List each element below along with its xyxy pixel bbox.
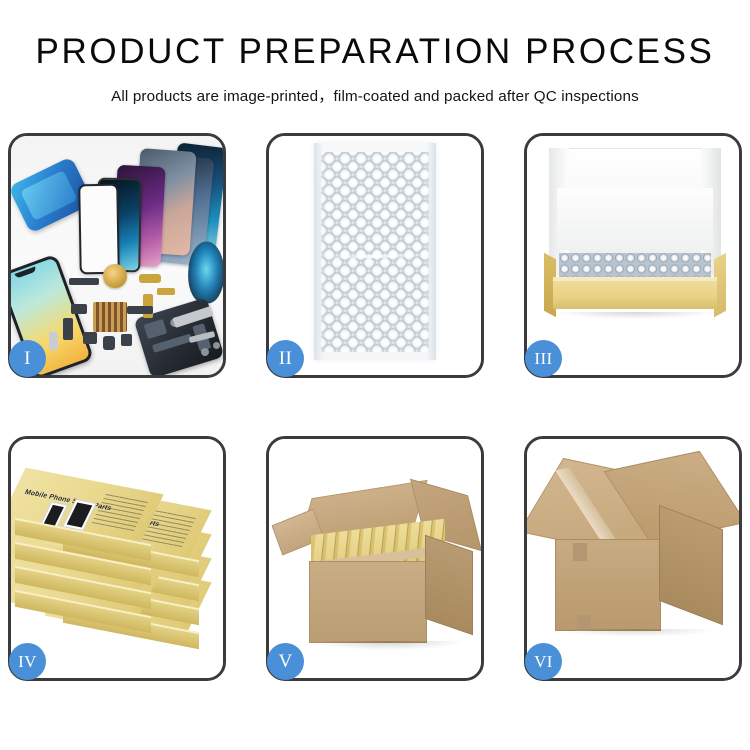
step-badge-1: I [9,340,46,377]
process-step-6: VI [524,436,742,681]
page-title: PRODUCT PREPARATION PROCESS [0,34,750,71]
carton-side-panel [425,535,473,636]
step-1-image [11,136,223,375]
step-6-image [527,439,739,678]
carton-drop-shadow [557,629,715,637]
process-step-5: V [266,436,484,681]
header: PRODUCT PREPARATION PROCESS All products… [0,0,750,106]
box-front-panel [553,281,717,309]
page-subtitle: All products are image-printed，film-coat… [0,84,750,106]
step-5-image [269,439,481,678]
bubble-pattern [321,152,429,352]
box-drop-shadow [557,312,715,319]
step-2-image [269,136,481,375]
speaker-module-graphic [103,264,127,288]
product-preparation-infographic: PRODUCT PREPARATION PROCESS All products… [0,0,750,750]
carton-notch [573,543,587,561]
connector-chip-graphic [93,302,127,332]
step-badge-2: II [267,340,304,377]
process-step-1: I [8,133,226,378]
step-4-image: Mobile Phone Spare Parts Mobile Phone Sp… [11,439,223,678]
process-step-4: Mobile Phone Spare Parts Mobile Phone Sp… [8,436,226,681]
screen-wallpaper-graphic [188,241,223,304]
foam-liner [557,188,713,250]
process-step-2: II [266,133,484,378]
step-3-image [527,136,739,375]
carton-front-panel [309,561,427,643]
step-badge-6: VI [525,643,562,680]
bubble-wrap-bag [314,143,436,360]
bag-edge-right [426,143,436,360]
retail-box-stack: Mobile Phone Spare Parts Mobile Phone Sp… [11,457,223,665]
process-step-3: III [524,133,742,378]
step-badge-5: V [267,643,304,680]
step-badge-3: III [525,340,562,377]
carton-drop-shadow [313,641,463,650]
process-steps-grid: I II [8,133,742,681]
step-badge-4: IV [9,643,46,680]
carton-front-panel [555,539,661,631]
bag-edge-left [314,143,324,360]
screen-protector-graphic [78,184,120,275]
